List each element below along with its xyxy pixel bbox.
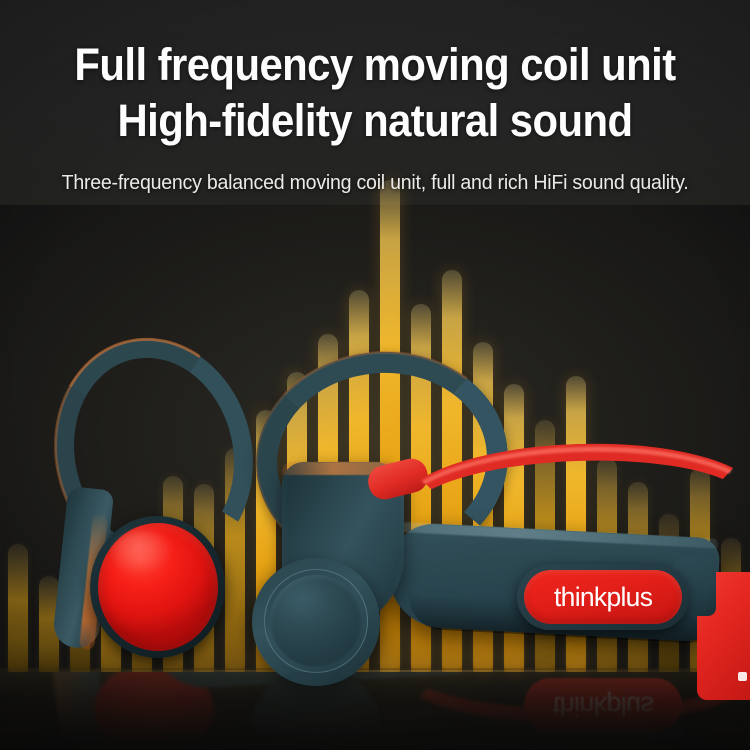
reflection-logo-plate: thinkplus — [524, 678, 682, 732]
product-reflection: thinkplus — [0, 672, 750, 750]
product-marketing-banner: thinkplus thinkplus Full frequency movin… — [0, 0, 750, 750]
marketing-copy-block: Full frequency moving coil unit High-fid… — [0, 0, 750, 196]
front-control-button — [270, 575, 362, 667]
brand-logo-text: thinkplus — [554, 584, 652, 611]
rear-driver-cap-highlight — [112, 531, 174, 575]
page-title-line-1: Full frequency moving coil unit — [26, 38, 724, 92]
reflection-logo-text: thinkplus — [553, 692, 653, 719]
page-title-line-2: High-fidelity natural sound — [26, 94, 724, 148]
brand-logo-plate: thinkplus — [524, 570, 682, 624]
subtitle-description: Three-frequency balanced moving coil uni… — [17, 170, 733, 196]
reflection-control-button — [252, 672, 380, 750]
